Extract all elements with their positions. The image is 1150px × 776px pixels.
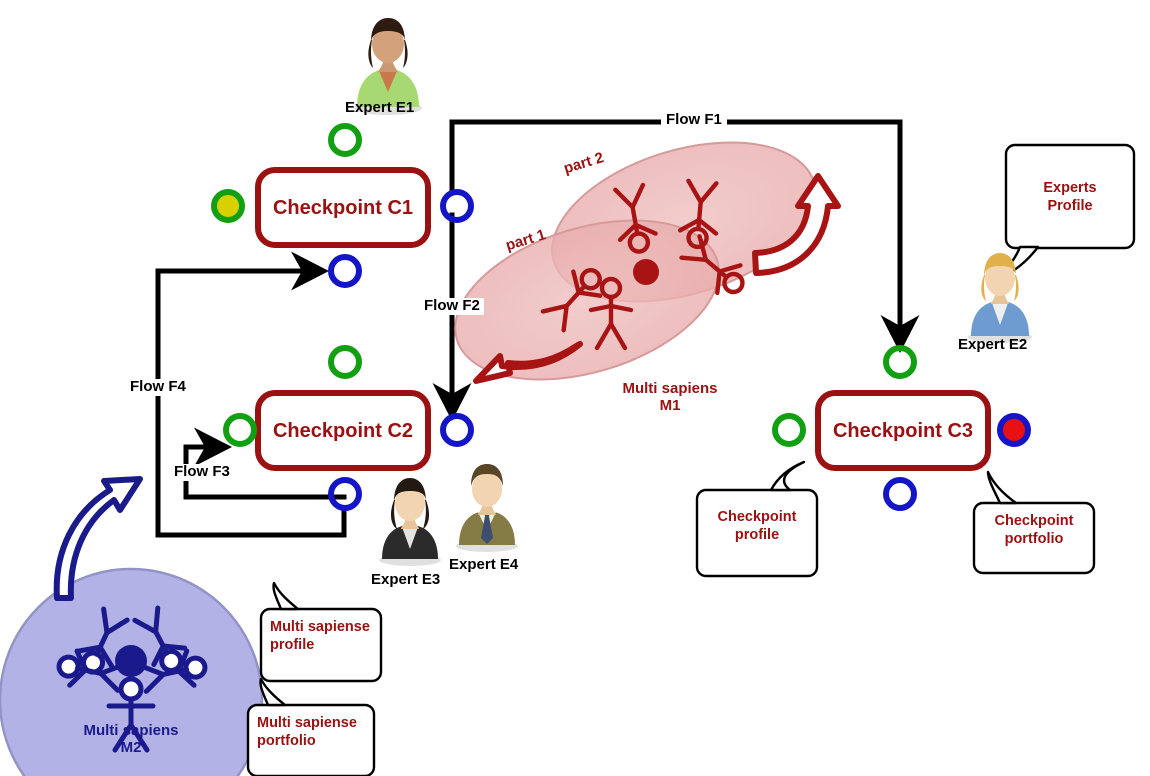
port-c1-left: [214, 192, 242, 220]
expert-e2-avatar: [968, 253, 1032, 343]
port-c1-right: [443, 192, 471, 220]
expert-e2-label: Expert E2: [958, 337, 1027, 354]
callout-ms-profile-text: Multi sapiense profile: [270, 619, 386, 654]
port-c3-right: [1000, 416, 1028, 444]
m2-core-dot: [115, 645, 147, 677]
callout-experts-profile-text: Experts Profile: [1006, 180, 1134, 215]
checkpoint-c3-label: Checkpoint C3: [818, 420, 988, 443]
expert-e3-label: Expert E3: [371, 572, 440, 589]
flow-f3-label: Flow F3: [170, 464, 234, 481]
multi-sapiens-m1-group: [436, 113, 838, 408]
multi-sapiens-m2-label: Multi sapiens M2: [56, 723, 206, 757]
flow-f1-label: Flow F1: [661, 112, 727, 129]
port-c2-top: [331, 348, 359, 376]
port-c3-top: [886, 348, 914, 376]
expert-e3-avatar: [379, 478, 441, 566]
expert-e4-avatar: [456, 464, 518, 552]
port-c2-right: [443, 416, 471, 444]
callout-checkpoint-portfolio-text: Checkpoint portfolio: [974, 513, 1094, 548]
callout-ms-portfolio-text: Multi sapiense portfolio: [257, 715, 381, 750]
port-c2-bottom: [331, 480, 359, 508]
port-c3-bottom: [886, 480, 914, 508]
checkpoint-c1-label: Checkpoint C1: [258, 197, 428, 220]
expert-e4-label: Expert E4: [449, 557, 518, 574]
port-c1-bottom: [331, 257, 359, 285]
flow-f4-label: Flow F4: [126, 379, 190, 396]
diagram-canvas: Checkpoint C1 Checkpoint C2 Checkpoint C…: [0, 0, 1150, 776]
m1-core-dot: [633, 259, 659, 285]
multi-sapiens-m1-label: Multi sapiens M1: [595, 381, 745, 415]
expert-e1-label: Expert E1: [345, 100, 414, 117]
port-c2-left: [226, 416, 254, 444]
flow-f2-label: Flow F2: [420, 298, 484, 315]
checkpoint-c2-label: Checkpoint C2: [258, 420, 428, 443]
port-c1-top: [331, 126, 359, 154]
port-c3-left: [775, 416, 803, 444]
callout-checkpoint-profile-text: Checkpoint profile: [697, 509, 817, 544]
